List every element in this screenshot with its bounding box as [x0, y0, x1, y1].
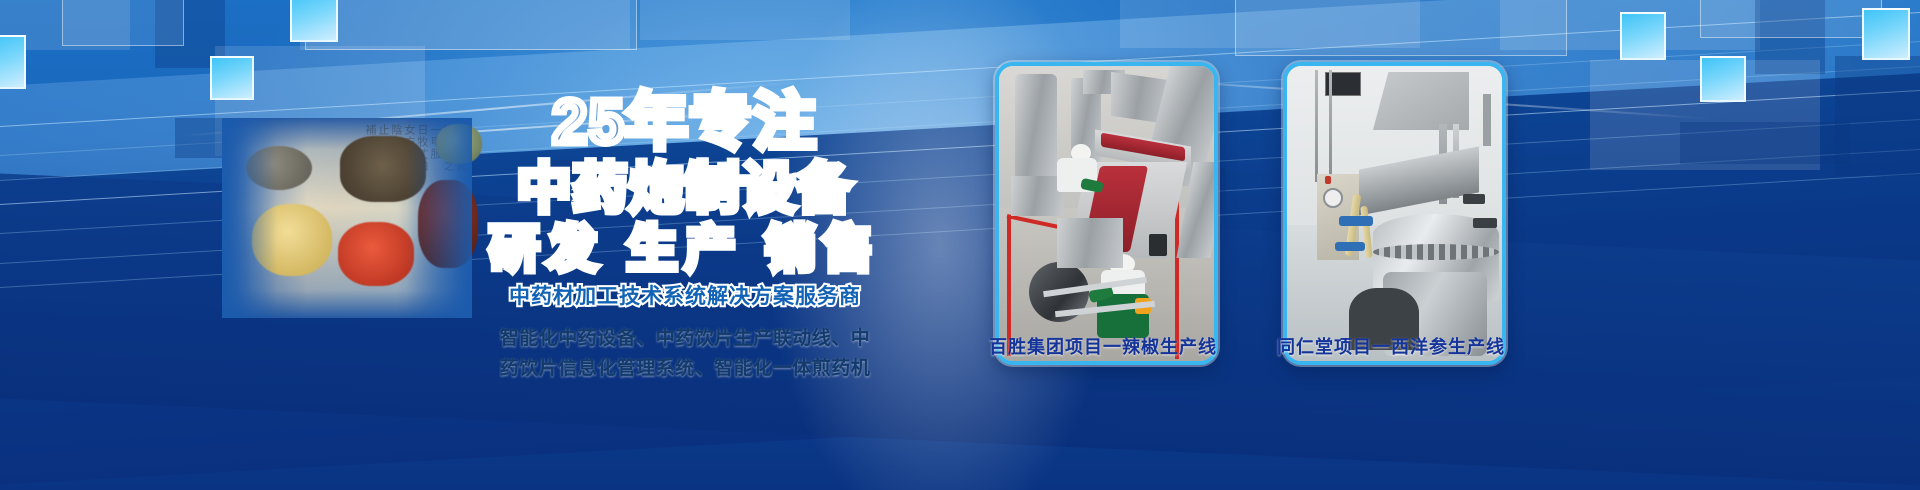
herb-edge-fade: [222, 118, 472, 318]
bg-square-5: [1700, 56, 1746, 102]
chain-drive: [1373, 244, 1499, 260]
indicator-light: [1325, 176, 1331, 184]
pressure-gauge: [1323, 188, 1343, 208]
bg-square-3: [290, 0, 338, 42]
valve-blue-1: [1339, 216, 1373, 226]
column-tank-1: [1015, 74, 1057, 182]
vertical-rod-1: [1315, 70, 1318, 182]
chinese-herbs-collage: 頭毒初起 諸海下之 一甲服 日牧丈柏 女方日 陰丸 止痛抄 補陰: [222, 118, 472, 318]
bg-square-1: [0, 35, 26, 89]
photo-chili-production-line[interactable]: [995, 62, 1218, 365]
extraction-hood: [1373, 72, 1469, 130]
photo-2-caption: 同仁堂项目一西洋参生产线: [1271, 333, 1511, 359]
bg-square-6: [1862, 8, 1910, 60]
machine-housing: [1057, 218, 1123, 268]
headline-tagline: 中药材加工技术系统解决方案服务商: [470, 280, 900, 310]
vertical-rod-2: [1329, 70, 1332, 178]
bg-frame-c: [1235, 0, 1567, 56]
bg-block-dark-e: [1680, 122, 1850, 164]
bg-square-4: [1620, 12, 1666, 60]
flange-1: [1463, 194, 1485, 204]
headline-line-3: 研发 生产 销售: [470, 224, 900, 274]
bg-square-2: [210, 56, 254, 100]
headline-block: 25年专注 中药炮制设备 研发 生产 销售 中药材加工技术系统解决方案服务商 智…: [470, 92, 900, 384]
side-pipe: [1483, 94, 1491, 146]
headline-description: 智能化中药设备、中药饮片生产联动线、中 药饮片信息化管理系统、智能化一体煎药机: [470, 324, 900, 384]
promo-banner: 頭毒初起 諸海下之 一甲服 日牧丈柏 女方日 陰丸 止痛抄 補陰 25年专注 中…: [0, 0, 1920, 490]
photo-1-image: [999, 66, 1214, 361]
flange-2: [1473, 218, 1497, 228]
bg-block-c: [640, 0, 850, 40]
photo-2-image: [1287, 66, 1502, 361]
description-line-2: 药饮片信息化管理系统、智能化一体煎药机: [470, 354, 900, 384]
valve-blue-2: [1335, 242, 1365, 251]
photo-ginseng-production-line[interactable]: [1283, 62, 1506, 365]
bg-frame-d: [1700, 0, 1882, 38]
headline-line-2: 中药炮制设备: [470, 162, 900, 216]
headline-line-1: 25年专注: [470, 92, 900, 154]
description-line-1: 智能化中药设备、中药饮片生产联动线、中: [470, 324, 900, 354]
worker-1: [1055, 144, 1099, 200]
conveyor-trough: [1359, 146, 1479, 215]
photo-1-caption: 百胜集团项目一辣椒生产线: [983, 333, 1223, 359]
bg-frame-a: [62, 0, 184, 46]
waste-bin: [1149, 234, 1167, 256]
bg-frame-b: [305, 0, 637, 50]
